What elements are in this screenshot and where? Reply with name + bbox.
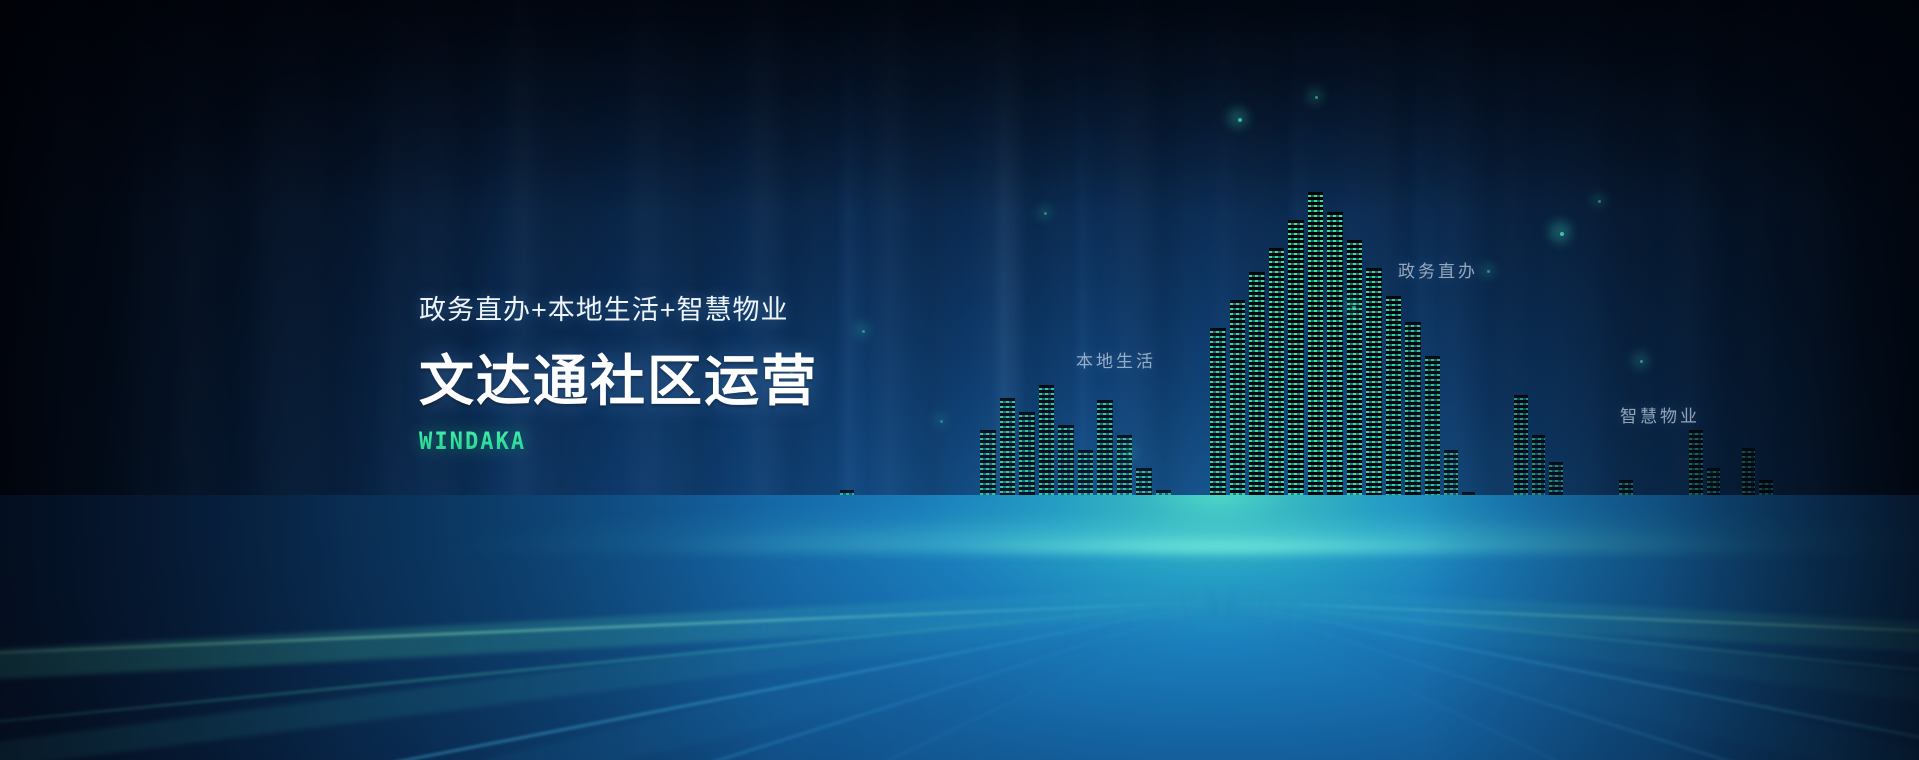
headline-block: 政务直办+本地生活+智慧物业 文达通社区运营 WINDAKA <box>419 288 1119 455</box>
spark-particle <box>1352 306 1356 310</box>
spark-particle <box>1044 212 1047 215</box>
city-tag-1: 政务直办 <box>1398 257 1478 282</box>
horizon-glow <box>0 495 1919 553</box>
banner-subtitle: 政务直办+本地生活+智慧物业 <box>419 288 1119 327</box>
spark-particle <box>1238 118 1242 122</box>
spark-particle <box>1128 452 1131 455</box>
city-tag-3: 智慧物业 <box>1620 402 1700 427</box>
city-tag-2: 本地生活 <box>1076 347 1156 372</box>
perspective-ground <box>0 495 1919 760</box>
spark-particle <box>1598 200 1601 203</box>
brand-wordmark: WINDAKA <box>419 427 1063 455</box>
banner-title: 文达通社区运营 <box>419 336 1119 416</box>
hero-banner: 政务直办+本地生活+智慧物业 文达通社区运营 WINDAKA 政务直办本地生活智… <box>0 0 1919 760</box>
spark-particle <box>1487 270 1490 273</box>
